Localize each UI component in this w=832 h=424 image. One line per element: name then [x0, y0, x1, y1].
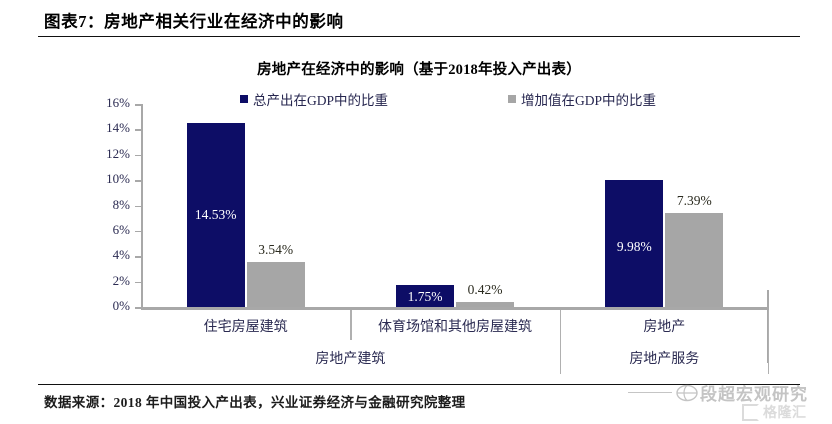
bar-value-label-s1-g0: 3.54%	[241, 242, 311, 258]
watermark-rule	[628, 392, 672, 394]
bar-value-label-s1-g2: 7.39%	[659, 193, 729, 209]
bar-series-1-group-0[interactable]	[247, 262, 305, 307]
y-axis-label: 14%	[72, 120, 130, 136]
y-axis-label: 0%	[72, 298, 130, 314]
category-label-2: 房地产	[560, 316, 769, 336]
watermark-logo: 格隆汇	[742, 402, 807, 422]
watermark-globe-icon	[674, 383, 700, 403]
bar-value-label-s0-g0: 14.53%	[181, 207, 251, 223]
bar-value-label-s1-g1: 0.42%	[450, 282, 520, 298]
y-axis-label: 4%	[72, 247, 130, 263]
bars-layer: 14.53%3.54%1.75%0.42%9.98%7.39%	[141, 104, 769, 307]
bar-series-1-group-1[interactable]	[456, 302, 514, 307]
group-label-0: 房地产建筑	[141, 348, 560, 368]
category-axis: 住宅房屋建筑体育场馆和其他房屋建筑房地产房地产建筑房地产服务	[141, 310, 769, 378]
y-axis-label: 2%	[72, 273, 130, 289]
y-axis-label: 6%	[72, 222, 130, 238]
exhibit-title: 图表7：房地产相关行业在经济中的影响	[38, 8, 800, 32]
y-axis-label: 16%	[72, 95, 130, 111]
y-axis-label: 10%	[72, 171, 130, 187]
watermark-logo-text: 格隆汇	[763, 402, 807, 422]
y-axis-tick	[135, 307, 142, 309]
chart-container: 房地产在经济中的影响（基于2018年投入产出表） 总产出在GDP中的比重增加值在…	[38, 44, 800, 380]
bar-value-label-s0-g2: 9.98%	[599, 239, 669, 255]
y-axis-label: 12%	[72, 146, 130, 162]
bar-series-1-group-2[interactable]	[665, 213, 723, 307]
category-label-1: 体育场馆和其他房屋建筑	[350, 316, 559, 336]
exhibit-header: 图表7：房地产相关行业在经济中的影响	[38, 8, 800, 37]
group-label-1: 房地产服务	[560, 348, 769, 368]
y-axis-label: 8%	[72, 197, 130, 213]
header-divider	[38, 36, 800, 37]
category-separator-0	[350, 310, 351, 340]
gelonghui-logo-icon	[742, 404, 759, 421]
category-label-0: 住宅房屋建筑	[141, 316, 350, 336]
